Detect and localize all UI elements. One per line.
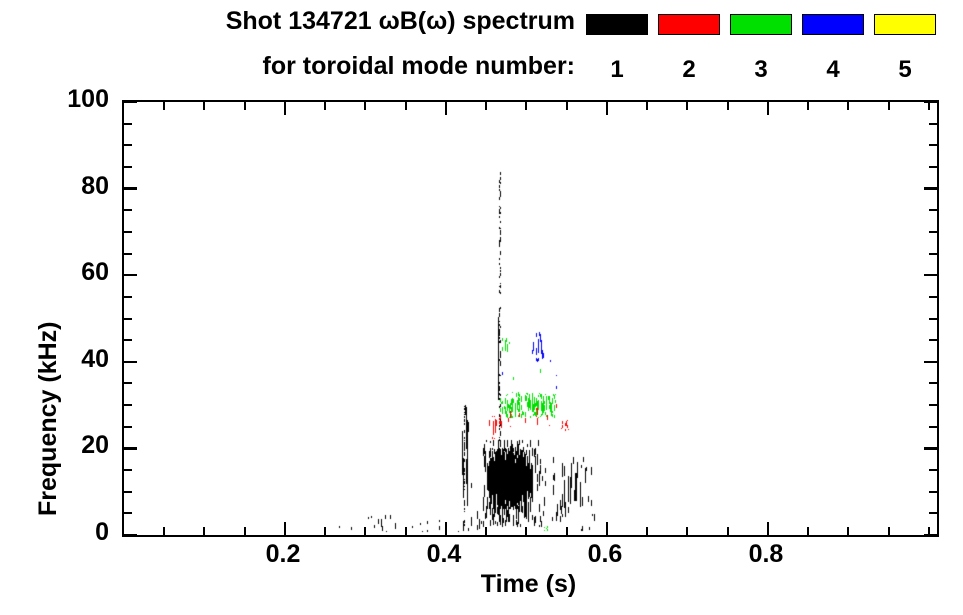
x-tick [686,527,688,535]
y-tick [929,512,937,514]
x-tick [847,527,849,535]
legend-label-4: 4 [797,58,869,82]
y-tick [929,209,937,211]
x-tick [686,102,688,110]
legend-label-5: 5 [869,58,941,82]
y-tick [929,296,937,298]
y-tick [924,447,937,450]
y-tick [124,339,132,341]
legend: 12345 [575,0,963,95]
y-tick-label-60: 60 [39,260,109,285]
y-tick [124,253,132,255]
y-tick [124,144,132,146]
plot-area [124,102,937,535]
y-tick [924,534,937,537]
x-tick [203,527,205,535]
y-tick [924,361,937,364]
x-tick [244,527,246,535]
x-tick [928,527,930,535]
y-tick [124,361,137,364]
y-tick [124,231,132,233]
x-tick-label-0.8: 0.8 [721,542,811,567]
y-tick [924,101,937,104]
y-axis-title: Frequency (kHz) [36,322,61,516]
legend-label-2: 2 [653,58,725,82]
x-tick [727,102,729,110]
x-tick [284,522,287,535]
y-tick [929,123,937,125]
y-tick [929,491,937,493]
y-tick [124,166,132,168]
y-tick [924,187,937,190]
legend-swatch-2 [658,14,720,35]
x-tick [566,102,568,110]
legend-swatch-4 [802,14,864,35]
title-line-1: Shot 134721 ωB(ω) spectrum [0,7,575,36]
y-tick [124,534,137,537]
x-tick [767,522,770,535]
x-tick-label-0.4: 0.4 [399,542,489,567]
x-tick-label-0.6: 0.6 [560,542,650,567]
y-tick [124,296,132,298]
x-tick [284,102,287,115]
legend-label-3: 3 [725,58,797,82]
x-tick [606,522,609,535]
x-axis-title: Time (s) [122,572,935,597]
x-tick [364,102,366,110]
x-tick [847,102,849,110]
spectrogram-canvas [124,102,937,535]
plot-frame [122,100,939,537]
y-tick [124,426,132,428]
x-tick [928,102,930,110]
y-tick [124,123,132,125]
x-tick [888,527,890,535]
spectrum-figure: Shot 134721 ωB(ω) spectrum for toroidal … [0,0,963,615]
x-tick [767,102,770,115]
y-tick [924,274,937,277]
x-tick [727,527,729,535]
y-tick [929,382,937,384]
legend-swatch-5 [874,14,936,35]
y-tick-label-80: 80 [39,174,109,199]
x-tick [324,527,326,535]
x-tick [244,102,246,110]
y-tick-label-100: 100 [39,87,109,112]
y-tick [124,447,137,450]
y-tick [929,166,937,168]
x-tick [163,527,165,535]
y-tick [124,187,137,190]
title-line-2: for toroidal mode number: [0,52,575,81]
y-tick [929,253,937,255]
legend-swatch-1 [586,14,648,35]
y-tick [124,101,137,104]
y-tick [929,231,937,233]
x-tick [807,527,809,535]
y-tick [124,274,137,277]
x-tick-label-0.2: 0.2 [238,542,328,567]
y-tick [124,404,132,406]
x-tick [405,102,407,110]
x-tick [646,527,648,535]
legend-swatch-3 [730,14,792,35]
figure-title: Shot 134721 ωB(ω) spectrum for toroidal … [0,0,575,95]
y-tick [929,144,937,146]
y-tick [929,404,937,406]
x-tick [364,527,366,535]
x-tick [163,102,165,110]
x-tick [525,527,527,535]
x-tick [807,102,809,110]
x-tick [445,522,448,535]
x-tick [203,102,205,110]
x-tick [324,102,326,110]
x-tick [888,102,890,110]
y-tick [124,382,132,384]
y-tick [929,339,937,341]
y-tick [929,318,937,320]
y-tick [124,512,132,514]
x-tick [485,527,487,535]
x-tick [445,102,448,115]
y-tick [124,209,132,211]
x-tick [646,102,648,110]
x-tick [525,102,527,110]
x-tick [566,527,568,535]
y-tick [929,469,937,471]
legend-label-1: 1 [581,58,653,82]
y-tick [929,426,937,428]
y-tick [124,318,132,320]
y-tick [124,469,132,471]
y-tick [124,491,132,493]
x-tick [606,102,609,115]
x-tick [485,102,487,110]
y-axis-title-wrap: Frequency (kHz) [8,100,42,533]
x-tick [405,527,407,535]
y-tick-label-0: 0 [39,520,109,545]
